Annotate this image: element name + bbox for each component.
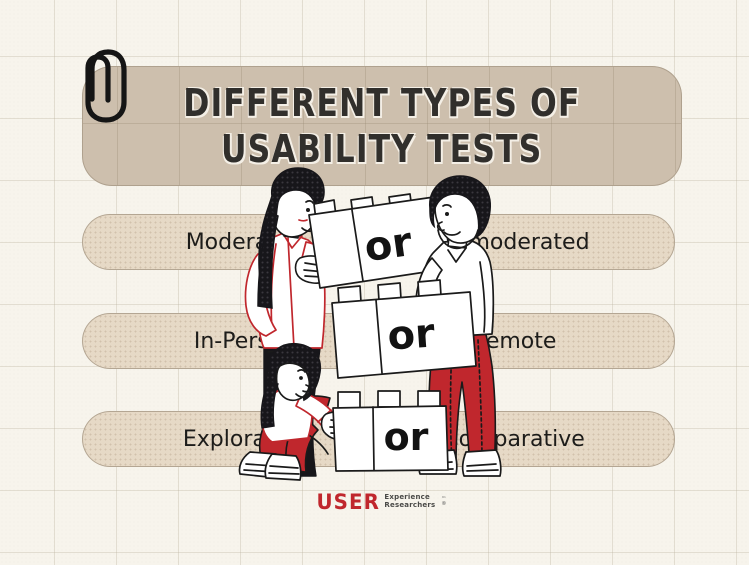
page-title-line-1: DIFFERENT TYPES OF bbox=[183, 80, 580, 126]
option-pill-explorative[interactable]: Explorative bbox=[82, 411, 382, 467]
logo-wordmark: USER bbox=[316, 490, 379, 514]
infographic-poster: DIFFERENT TYPES OF USABILITY TESTS Moder… bbox=[0, 0, 749, 565]
option-pill-comparative[interactable]: Comparative bbox=[375, 411, 675, 467]
option-pill-in-person[interactable]: In-Person bbox=[82, 313, 382, 369]
option-label-right-1: Unmoderated bbox=[438, 230, 589, 255]
paperclip-icon bbox=[72, 44, 130, 131]
option-pill-moderated[interactable]: Moderated bbox=[82, 214, 382, 270]
page-title-line-2: USABILITY TESTS bbox=[221, 126, 542, 172]
registered-symbol: ® bbox=[441, 502, 446, 507]
option-label-right-3: Comparative bbox=[443, 427, 585, 452]
logo-tagline-line-2: Researchers bbox=[384, 502, 435, 510]
option-label-right-2: Remote bbox=[472, 329, 557, 354]
option-pill-unmoderated[interactable]: Unmoderated bbox=[375, 214, 675, 270]
brand-logo: USER Experience Researchers ™ ® bbox=[318, 490, 447, 514]
option-label-left-1: Moderated bbox=[186, 230, 305, 255]
logo-marks: ™ ® bbox=[441, 497, 446, 508]
title-banner: DIFFERENT TYPES OF USABILITY TESTS bbox=[82, 66, 682, 186]
option-label-left-3: Explorative bbox=[183, 427, 307, 452]
option-label-left-2: In-Person bbox=[194, 329, 296, 354]
option-pill-remote[interactable]: Remote bbox=[375, 313, 675, 369]
logo-tagline: Experience Researchers bbox=[384, 494, 435, 509]
